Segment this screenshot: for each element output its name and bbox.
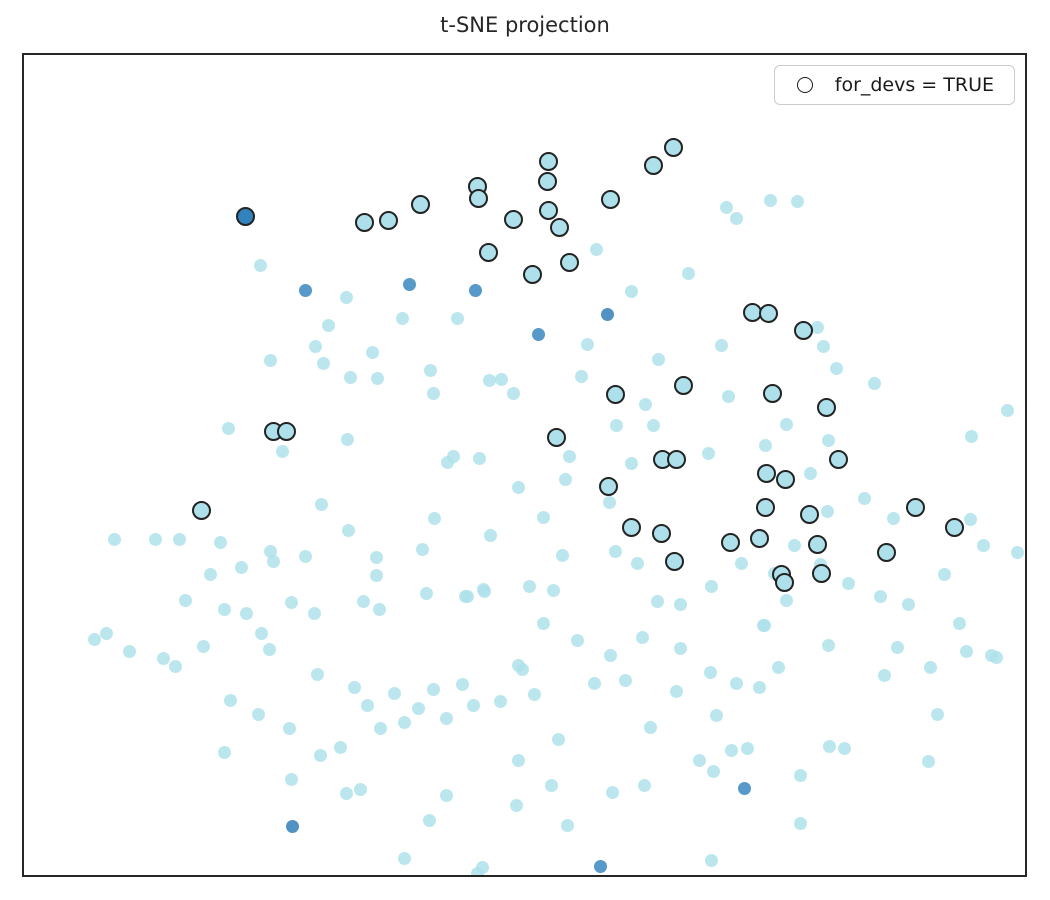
scatter-point-for-devs-false [887,512,900,525]
scatter-point-for-devs-false [791,195,804,208]
scatter-point-for-devs-false [240,607,253,620]
scatter-point-for-devs-false [625,285,638,298]
scatter-point-for-devs-true [775,573,794,592]
scatter-point-for-devs-true [479,243,498,262]
scatter-point-for-devs-false [563,450,576,463]
scatter-point-for-devs-false [552,733,565,746]
scatter-point-for-devs-true [776,470,795,489]
scatter-point-for-devs-false [764,194,777,207]
scatter-point-for-devs-false [315,498,328,511]
scatter-point-for-devs-false [922,755,935,768]
scatter-point-for-devs-false [603,496,616,509]
scatter-point-for-devs-true [667,450,686,469]
scatter-point-for-devs-false [868,377,881,390]
scatter-point-for-devs-false [456,678,469,691]
legend[interactable]: for_devs = TRUE [774,65,1015,105]
scatter-point-for-devs-false [619,674,632,687]
scatter-point-for-devs-false [604,649,617,662]
scatter-point-for-devs-false [1011,546,1024,559]
scatter-point-for-devs-false [484,529,497,542]
scatter-point-for-devs-false [759,439,772,452]
scatter-point-for-devs-false [559,473,572,486]
scatter-point-for-devs-false [674,598,687,611]
scatter-point-for-devs-false [581,338,594,351]
scatter-point-for-devs-false [594,876,607,878]
scatter-point-for-devs-false [964,513,977,526]
scatter-point-for-devs-false [495,373,508,386]
scatter-point-for-devs-false [537,617,550,630]
scatter-point-for-devs-false [725,744,738,757]
scatter-point-for-devs-true [750,529,769,548]
scatter-point-for-devs-false [311,668,324,681]
scatter-point-for-devs-false [780,594,793,607]
scatter-point-for-devs-false [308,607,321,620]
scatter-point-for-devs-false [821,505,834,518]
scatter-point-for-devs-false [590,243,603,256]
scatter-point-for-devs-true [721,533,740,552]
scatter-point-for-devs-true [547,428,566,447]
scatter-point-for-devs-true [756,498,775,517]
scatter-point-for-devs-false [670,685,683,698]
scatter-point-for-devs-true [794,321,813,340]
scatter-point-for-devs-false [424,364,437,377]
scatter-point-for-devs-false [100,627,113,640]
legend-entry-label: for_devs = TRUE [835,74,1000,96]
scatter-point-for-devs-false [428,512,441,525]
scatter-point-for-devs-false [794,769,807,782]
scatter-point-for-devs-false [374,722,387,735]
scatter-point-for-devs-false [523,580,536,593]
scatter-point-for-devs-false [647,419,660,432]
scatter-point-for-devs-false [704,666,717,679]
scatter-point-for-devs-true [606,385,625,404]
scatter-point-for-devs-false [674,642,687,655]
scatter-point-for-devs-false [532,328,545,341]
scatter-point-for-devs-true [277,422,296,441]
scatter-point-for-devs-false [255,627,268,640]
scatter-point-for-devs-false [512,481,525,494]
scatter-point-for-devs-false [204,568,217,581]
scatter-point-for-devs-false [461,590,474,603]
scatter-point-for-devs-false [977,539,990,552]
scatter-point-for-devs-false [990,651,1003,664]
scatter-point-for-devs-false [366,346,379,359]
scatter-point-for-devs-false [804,467,817,480]
scatter-point-for-devs-true [469,189,488,208]
scatter-point-for-devs-false [344,371,357,384]
scatter-point-for-devs-false [902,598,915,611]
scatter-point-for-devs-true [665,552,684,571]
scatter-point-for-devs-false [588,677,601,690]
scatter-point-for-devs-false [427,683,440,696]
scatter-point-for-devs-false [173,533,186,546]
scatter-point-for-devs-false [354,783,367,796]
scatter-point-for-devs-false [218,746,231,759]
scatter-point-for-devs-false [467,699,480,712]
scatter-point-for-devs-true [812,564,831,583]
scatter-point-for-devs-false [545,779,558,792]
scatter-point-for-devs-false [953,617,966,630]
scatter-point-for-devs-false [965,430,978,443]
scatter-point-for-devs-false [639,398,652,411]
scatter-point-for-devs-false [822,639,835,652]
scatter-point-for-devs-false [340,291,353,304]
scatter-point-for-devs-true [599,477,618,496]
scatter-point-for-devs-false [720,201,733,214]
scatter-point-for-devs-true [550,218,569,237]
scatter-point-for-devs-false [594,860,607,873]
scatter-point-for-devs-true [945,518,964,537]
scatter-point-for-devs-false [652,353,665,366]
scatter-point-for-devs-false [638,779,651,792]
scatter-point-for-devs-false [473,452,486,465]
scatter-point-for-devs-false [396,312,409,325]
scatter-point-for-devs-false [636,631,649,644]
scatter-point-for-devs-true [664,138,683,157]
scatter-point-for-devs-false [705,580,718,593]
scatter-point-for-devs-false [235,561,248,574]
scatter-point-for-devs-false [403,278,416,291]
scatter-point-for-devs-false [631,557,644,570]
scatter-point-for-devs-false [88,633,101,646]
scatter-point-for-devs-true [759,304,778,323]
scatter-point-for-devs-false [644,721,657,734]
scatter-point-for-devs-false [822,434,835,447]
scatter-point-for-devs-false [440,789,453,802]
scatter-point-for-devs-false [823,740,836,753]
scatter-point-for-devs-false [398,852,411,865]
scatter-point-for-devs-false [342,524,355,537]
scatter-point-for-devs-true [817,398,836,417]
scatter-point-for-devs-false [938,568,951,581]
scatter-point-for-devs-false [651,595,664,608]
scatter-point-for-devs-false [309,340,322,353]
scatter-point-for-devs-false [512,754,525,767]
scatter-point-for-devs-false [252,708,265,721]
scatter-point-for-devs-false [931,708,944,721]
scatter-point-for-devs-false [571,634,584,647]
scatter-point-for-devs-true [538,172,557,191]
scatter-point-for-devs-false [361,699,374,712]
scatter-point-for-devs-false [370,551,383,564]
scatter-point-for-devs-false [469,284,482,297]
scatter-point-for-devs-false [285,773,298,786]
scatter-point-for-devs-false [556,549,569,562]
scatter-point-for-devs-true [539,201,558,220]
scatter-point-for-devs-false [451,312,464,325]
scatter-point-for-devs-false [317,357,330,370]
scatter-point-for-devs-true [644,156,663,175]
scatter-point-for-devs-false [388,687,401,700]
scatter-point-for-devs-false [441,456,454,469]
circle-outline-icon [797,77,813,93]
scatter-point-for-devs-true [355,213,374,232]
scatter-point-for-devs-true [411,195,430,214]
scatter-point-for-devs-false [263,643,276,656]
scatter-point-for-devs-false [440,712,453,725]
scatter-point-for-devs-false [601,308,614,321]
scatter-point-for-devs-false [788,539,801,552]
scatter-point-for-devs-true [601,190,620,209]
scatter-point-for-devs-false [924,661,937,674]
scatter-point-for-devs-false [197,640,210,653]
scatter-point-for-devs-true [379,211,398,230]
scatter-point-for-devs-false [314,749,327,762]
scatter-point-for-devs-false [838,742,851,755]
scatter-point-for-devs-false [625,457,638,470]
scatter-point-for-devs-false [753,681,766,694]
scatter-point-for-devs-false [169,660,182,673]
scatter-point-for-devs-false [494,695,507,708]
scatter-point-for-devs-false [357,595,370,608]
scatter-point-for-devs-false [794,817,807,830]
scatter-point-for-devs-false [398,716,411,729]
scatter-point-for-devs-false [214,536,227,549]
scatter-point-for-devs-false [340,787,353,800]
scatter-point-for-devs-false [222,422,235,435]
scatter-point-for-devs-false [341,433,354,446]
scatter-point-for-devs-false [1001,404,1014,417]
scatter-point-for-devs-false [878,669,891,682]
scatter-point-for-devs-false [561,819,574,832]
scatter-point-for-devs-true [504,210,523,229]
scatter-point-for-devs-false [606,786,619,799]
scatter-point-for-devs-true [539,152,558,171]
scatter-point-for-devs-false [276,445,289,458]
scatter-point-for-devs-false [299,284,312,297]
scatter-point-for-devs-false [738,782,751,795]
scatter-point-for-devs-false [780,418,793,431]
scatter-point-for-devs-false [373,603,386,616]
scatter-point-for-devs-true [192,501,211,520]
scatter-point-for-devs-false [218,603,231,616]
scatter-point-for-devs-false [283,722,296,735]
scatter-point-for-devs-false [476,861,489,874]
plot-area[interactable]: for_devs = TRUE [22,53,1027,877]
scatter-point-for-devs-true [652,524,671,543]
scatter-point-for-devs-false [547,584,560,597]
scatter-point-for-devs-false [757,619,770,632]
scatter-point-for-devs-false [362,875,375,878]
scatter-point-for-devs-false [512,659,525,672]
scatter-point-for-devs-false [348,681,361,694]
scatter-point-for-devs-false [528,688,541,701]
scatter-point-for-devs-true [763,384,782,403]
scatter-point-for-devs-false [322,319,335,332]
scatter-point-for-devs-false [741,742,754,755]
scatter-point-for-devs-false [610,419,623,432]
scatter-point-for-devs-false [705,854,718,867]
scatter-point-for-devs-false [735,557,748,570]
scatter-point-for-devs-true [757,464,776,483]
scatter-point-for-devs-true [560,253,579,272]
scatter-point-for-devs-false [179,594,192,607]
scatter-point-for-devs-true [829,450,848,469]
scatter-point-for-devs-true [808,535,827,554]
scatter-point-for-devs-false [334,741,347,754]
scatter-point-for-devs-false [412,702,425,715]
scatter-point-for-devs-true [800,505,819,524]
scatter-point-for-devs-false [537,511,550,524]
scatter-point-for-devs-false [891,641,904,654]
scatter-point-for-devs-false [858,492,871,505]
scatter-point-for-devs-false [254,259,267,272]
scatter-point-for-devs-false [575,370,588,383]
scatter-point-for-devs-false [299,550,312,563]
scatter-points-layer [24,55,1025,875]
scatter-point-for-devs-false [730,212,743,225]
scatter-point-for-devs-true [523,265,542,284]
scatter-point-for-devs-false [507,387,520,400]
scatter-point-for-devs-true [877,543,896,562]
scatter-point-for-devs-false [830,362,843,375]
scatter-point-for-devs-false [510,799,523,812]
scatter-point-for-devs-true [622,518,641,537]
scatter-point-for-devs-false [960,645,973,658]
scatter-point-for-devs-false [370,569,383,582]
scatter-point-for-devs-false [427,387,440,400]
scatter-point-for-devs-false [682,267,695,280]
scatter-point-for-devs-false [730,677,743,690]
scatter-point-for-devs-false [702,447,715,460]
scatter-point-for-devs-false [108,533,121,546]
scatter-point-for-devs-false [423,814,436,827]
scatter-point-for-devs-false [267,555,280,568]
scatter-point-for-devs-false [123,645,136,658]
scatter-point-for-devs-true [236,207,255,226]
scatter-point-for-devs-false [286,820,299,833]
scatter-point-for-devs-false [224,694,237,707]
scatter-point-for-devs-false [478,585,491,598]
scatter-point-for-devs-false [483,374,496,387]
scatter-point-for-devs-false [420,587,433,600]
scatter-point-for-devs-false [772,661,785,674]
scatter-point-for-devs-false [874,590,887,603]
scatter-point-for-devs-true [906,498,925,517]
scatter-point-for-devs-false [693,754,706,767]
scatter-point-for-devs-false [722,390,735,403]
page-title: t-SNE projection [0,13,1050,37]
scatter-point-for-devs-false [842,577,855,590]
scatter-point-for-devs-false [157,652,170,665]
scatter-point-for-devs-true [674,376,693,395]
scatter-point-for-devs-false [285,596,298,609]
tsne-figure: t-SNE projection for_devs = TRUE [0,0,1050,900]
scatter-point-for-devs-false [416,543,429,556]
scatter-point-for-devs-false [149,533,162,546]
scatter-point-for-devs-false [707,765,720,778]
scatter-point-for-devs-false [371,372,384,385]
scatter-point-for-devs-false [817,340,830,353]
scatter-point-for-devs-false [715,339,728,352]
scatter-point-for-devs-false [264,354,277,367]
scatter-point-for-devs-false [609,545,622,558]
scatter-point-for-devs-false [710,709,723,722]
